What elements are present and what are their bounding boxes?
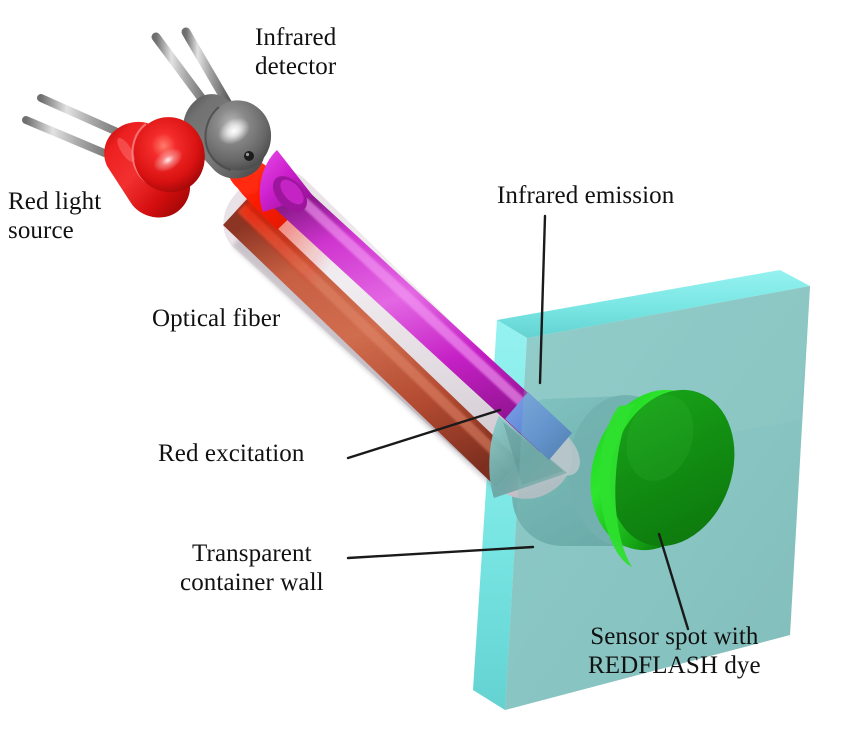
label-transparent-container-wall: Transparent container wall (180, 540, 324, 598)
detector-aperture-dot (244, 151, 254, 161)
label-red-excitation: Red excitation (158, 440, 305, 469)
detector-aperture-glint (246, 153, 249, 156)
label-infrared-emission: Infrared emission (497, 182, 674, 211)
label-red-light-source: Red light source (8, 188, 101, 246)
label-optical-fiber: Optical fiber (152, 305, 280, 334)
figure-canvas: Infrared detector Red light source Optic… (0, 0, 850, 741)
label-infrared-detector: Infrared detector (255, 24, 336, 82)
label-sensor-spot: Sensor spot with REDFLASH dye (588, 623, 761, 681)
